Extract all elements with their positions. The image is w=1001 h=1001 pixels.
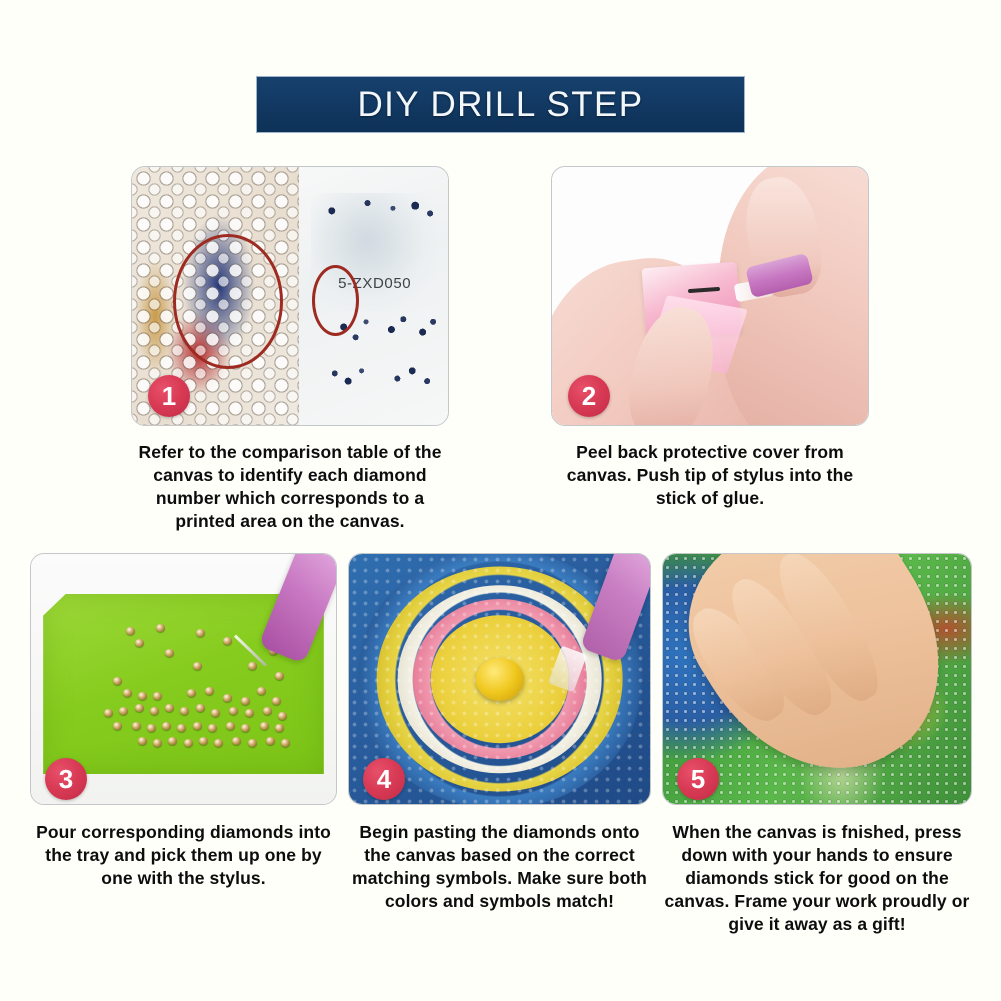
page-title: DIY DRILL STEP (357, 85, 643, 125)
step-number-5: 5 (691, 764, 705, 795)
step-3-image: 3 (30, 553, 337, 805)
step-4-image: 4 (348, 553, 651, 805)
step-number-4: 4 (377, 764, 391, 795)
step-1-caption: Refer to the comparison table of the can… (131, 441, 449, 533)
step-4-caption: Begin pasting the diamonds onto the canv… (348, 821, 651, 913)
canvas-annotation-circle (173, 234, 283, 369)
step-number-3: 3 (59, 764, 73, 795)
step-number-badge-4: 4 (363, 758, 405, 800)
step-2-caption: Peel back protective cover from canvas. … (551, 441, 869, 510)
step-panel-1: 5-ZXD050 1 Refer to the comparison table… (131, 166, 449, 533)
bag-label-annotation-circle (312, 265, 359, 336)
step-panel-3: 3 Pour corresponding diamonds into the t… (30, 553, 337, 890)
step-number-badge-3: 3 (45, 758, 87, 800)
step-number-1: 1 (162, 381, 176, 412)
step-panel-2: 2 Peel back protective cover from canvas… (551, 166, 869, 510)
mandala-center-gem (475, 658, 523, 701)
step-panel-5: 5 When the canvas is fnished, press down… (662, 553, 972, 936)
step-number-badge-2: 2 (568, 375, 610, 417)
step-3-caption: Pour corresponding diamonds into the tra… (30, 821, 337, 890)
step-5-caption: When the canvas is fnished, press down w… (662, 821, 972, 936)
page-title-banner: DIY DRILL STEP (256, 76, 745, 133)
step-5-image: 5 (662, 553, 972, 805)
step-number-badge-5: 5 (677, 758, 719, 800)
step-number-badge-1: 1 (148, 375, 190, 417)
step-panel-4: 4 Begin pasting the diamonds onto the ca… (348, 553, 651, 913)
step-number-2: 2 (582, 381, 596, 412)
step-2-image: 2 (551, 166, 869, 426)
step-1-image: 5-ZXD050 1 (131, 166, 449, 426)
